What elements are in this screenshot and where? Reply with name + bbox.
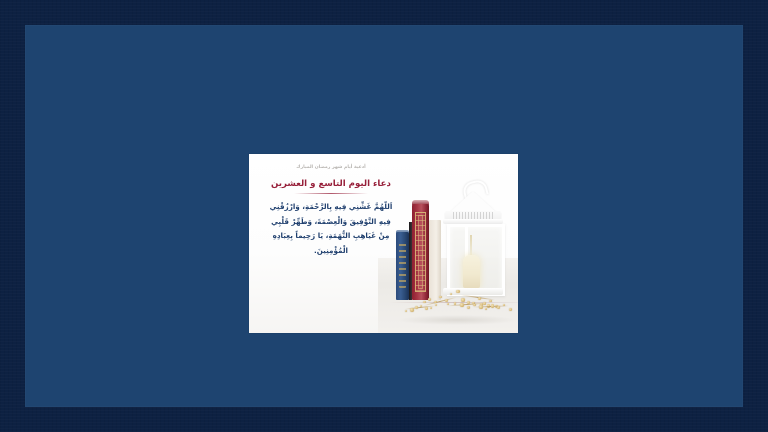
flower-bud [478,297,481,300]
flower-bud [456,290,460,294]
flower-bud [430,307,432,309]
flower-bud [435,304,437,306]
card-text-zone: أدعية أيام شهر رمضان المبارك دعاء اليوم … [255,162,407,325]
flower-bud [461,298,465,302]
white-lantern-icon [441,181,505,303]
dua-line: اَللّهُمَّ غَشِّنِي فِيهِ بِالرَّحْمَةِ،… [255,203,407,210]
flower-bud [485,308,487,310]
candle-icon [463,255,480,288]
flower-bud [473,304,476,307]
blue-book-icon [396,232,409,300]
flower-bud [410,308,414,312]
flower-bud [447,303,449,305]
flower-bud [415,306,418,309]
flower-bud [460,303,464,307]
flower-bud [405,310,407,312]
red-ornate-book-icon [412,204,429,300]
title-divider [294,193,368,194]
flower-bud [423,301,426,304]
card-title: دعاء اليوم التاسع و العشرين [255,179,407,189]
flower-bud [425,307,428,310]
lantern-roof [449,191,497,213]
flower-bud [450,293,452,295]
flower-bud [509,308,512,311]
ramadan-dua-card: أدعية أيام شهر رمضان المبارك دعاء اليوم … [249,154,518,333]
card-photo [389,154,518,333]
card-kicker: أدعية أيام شهر رمضان المبارك [255,165,407,170]
dried-flowers-icon [403,291,515,319]
flower-bud [497,306,500,309]
blue-book-gold-pattern [399,242,406,288]
dua-line: فِيهِ التَّوْفِيقَ وَالْعِصْمَةَ، وَطَهِ… [255,218,407,225]
flower-bud [467,301,470,304]
flower-bud [479,305,483,309]
flower-bud [503,304,505,306]
lantern-vents [453,212,493,219]
red-book-gold-ornament [415,212,426,292]
flower-bud [489,300,491,302]
flower-bud [439,296,441,298]
flower-bud [467,306,470,309]
flower-bud [491,304,494,307]
dua-line: مِنْ غَيَاهِبِ التُّهَمَةِ، يَا رَحِيماً… [255,232,407,239]
dua-line: الْمُؤْمِنِينَ. [255,247,407,254]
screenshot-root: أدعية أيام شهر رمضان المبارك دعاء اليوم … [0,0,768,432]
flower-bud [445,299,448,302]
dua-body: اَللّهُمَّ غَشِّنِي فِيهِ بِالرَّحْمَةِ،… [255,203,407,254]
pale-book-icon [429,220,441,300]
flower-bud [434,301,437,304]
flower-bud [483,302,485,304]
flower-bud [428,298,431,301]
candle-wick [470,235,472,257]
